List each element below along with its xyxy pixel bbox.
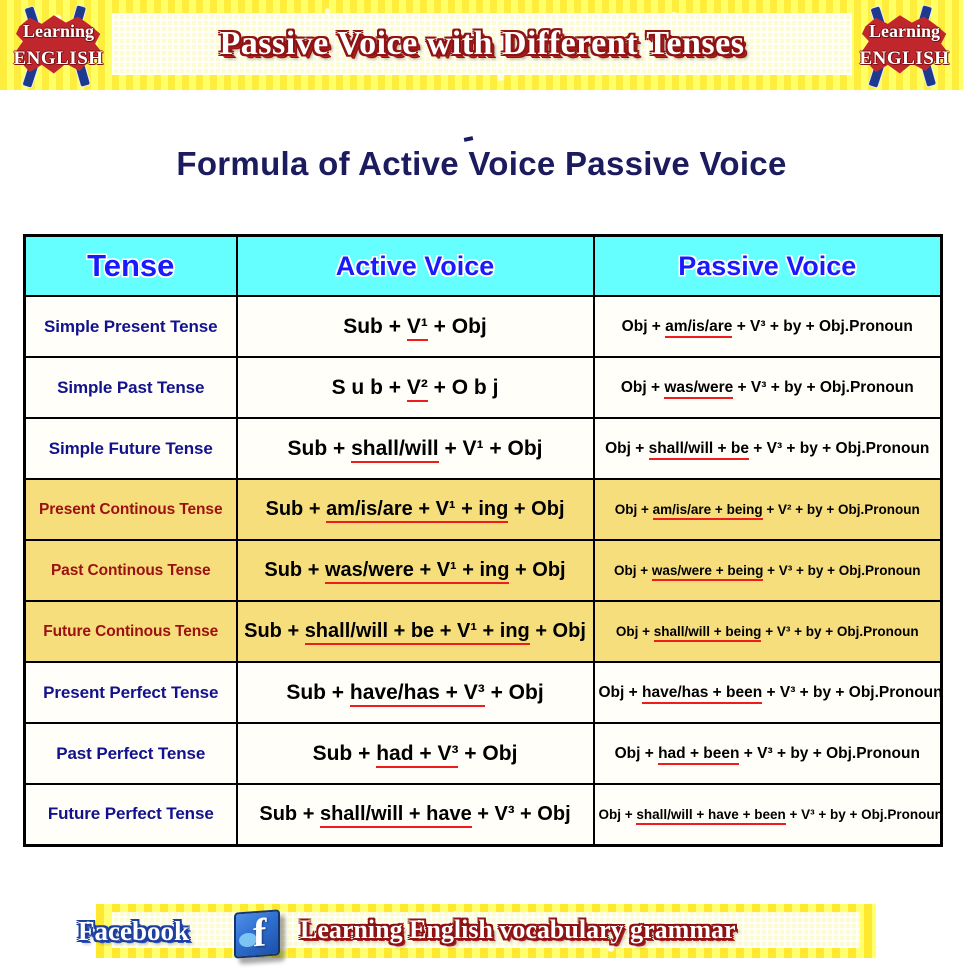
tense-name: Simple Past Tense <box>25 357 237 418</box>
underlined-segment: shall/will <box>351 437 439 463</box>
underlined-segment: am/is/are + V¹ + ing <box>326 498 508 523</box>
facebook-label[interactable]: Facebook <box>78 916 189 947</box>
plain-segment: + V³ + by + Obj.Pronoun <box>749 440 929 457</box>
passive-voice-formula: Obj + shall/will + being + V³ + by + Obj… <box>594 601 942 662</box>
page-title: Passive Voice with Different Tenses <box>112 13 852 75</box>
underlined-segment: was/were + V¹ + ing <box>325 559 510 584</box>
plain-segment: + V³ + by + Obj.Pronoun <box>763 563 920 578</box>
active-voice-formula: S u b + V² + O b j <box>237 357 594 418</box>
plain-segment: Sub + <box>244 620 305 642</box>
plain-segment: Sub + <box>286 681 350 704</box>
logo-text-line2: ENGLISH <box>6 48 111 70</box>
plain-segment: Obj + <box>605 440 649 457</box>
underlined-segment: was/were <box>664 379 733 399</box>
table-row: Present Continous TenseSub + am/is/are +… <box>25 479 942 540</box>
plain-segment: + V³ + Obj <box>472 803 571 825</box>
tense-name: Simple Present Tense <box>25 296 237 357</box>
underlined-segment: had + been <box>658 745 739 765</box>
passive-voice-formula: Obj + was/were + V³ + by + Obj.Pronoun <box>594 357 942 418</box>
plain-segment: + V¹ + Obj <box>439 437 543 460</box>
plain-segment: Sub + <box>313 742 377 765</box>
underlined-segment: shall/will + being <box>654 624 762 642</box>
table-row: Future Perfect TenseSub + shall/will + h… <box>25 784 942 845</box>
tense-name: Present Continous Tense <box>25 479 237 540</box>
table-row: Present Perfect TenseSub + have/has + V³… <box>25 662 942 723</box>
underlined-segment: have/has + V³ <box>350 681 485 707</box>
tense-name: Past Perfect Tense <box>25 723 237 784</box>
plain-segment: Sub + <box>287 437 351 460</box>
plain-segment: + V³ + by + Obj.Pronoun <box>739 745 919 762</box>
header-banner: Passive Voice with Different Tenses Lear… <box>0 0 963 90</box>
underlined-segment: had + V³ <box>376 742 458 768</box>
plain-segment: + V³ + by + Obj.Pronoun <box>786 807 943 822</box>
table-body: Simple Present TenseSub + V¹ + ObjObj + … <box>25 296 942 845</box>
plain-segment: Obj + <box>599 807 637 822</box>
underlined-segment: have/has + been <box>642 684 762 704</box>
plain-segment: + V³ + by + Obj.Pronoun <box>761 624 918 639</box>
plain-segment: Sub + <box>265 498 326 520</box>
active-voice-formula: Sub + had + V³ + Obj <box>237 723 594 784</box>
plain-segment: Obj + <box>615 502 653 517</box>
tense-name: Past Continous Tense <box>25 540 237 601</box>
tense-name: Future Continous Tense <box>25 601 237 662</box>
table-row: Simple Future TenseSub + shall/will + V¹… <box>25 418 942 479</box>
formula-subtitle-text: Formula of Active Voice Passive Voice <box>176 145 786 182</box>
plain-segment: Obj + <box>621 379 665 396</box>
passive-voice-formula: Obj + have/has + been + V³ + by + Obj.Pr… <box>594 662 942 723</box>
passive-voice-formula: Obj + am/is/are + being + V² + by + Obj.… <box>594 479 942 540</box>
table-header-row: Tense Active Voice Passive Voice <box>25 236 942 297</box>
active-voice-formula: Sub + am/is/are + V¹ + ing + Obj <box>237 479 594 540</box>
active-voice-formula: Sub + shall/will + be + V¹ + ing + Obj <box>237 601 594 662</box>
passive-voice-formula: Obj + shall/will + be + V³ + by + Obj.Pr… <box>594 418 942 479</box>
plain-segment: + O b j <box>428 376 499 399</box>
table-row: Future Continous TenseSub + shall/will +… <box>25 601 942 662</box>
underlined-segment: V² <box>407 376 428 402</box>
plain-segment: + V³ + by + Obj.Pronoun <box>732 318 912 335</box>
column-header-active-voice: Active Voice <box>237 236 594 297</box>
plain-segment: + Obj <box>485 681 544 704</box>
stray-mark-icon <box>464 136 474 142</box>
plain-segment: Sub + <box>259 803 320 825</box>
table-row: Simple Past TenseS u b + V² + O b jObj +… <box>25 357 942 418</box>
facebook-icon-letter: f <box>253 910 293 957</box>
plain-segment: Obj + <box>622 318 666 335</box>
facebook-icon[interactable]: f <box>231 909 283 959</box>
plain-segment: Obj + <box>615 745 659 762</box>
plain-segment: + Obj <box>530 620 586 642</box>
underlined-segment: V¹ <box>407 315 428 341</box>
plain-segment: Obj + <box>614 563 652 578</box>
underlined-segment: shall/will + be + V¹ + ing <box>305 620 530 645</box>
tense-name: Future Perfect Tense <box>25 784 237 845</box>
active-voice-formula: Sub + was/were + V¹ + ing + Obj <box>237 540 594 601</box>
logo-badge-left: Learning ENGLISH <box>6 8 111 84</box>
underlined-segment: shall/will + be <box>649 440 749 460</box>
underlined-segment: shall/will + have + been <box>636 807 785 825</box>
plain-segment: + V² + by + Obj.Pronoun <box>763 502 920 517</box>
column-header-passive-voice: Passive Voice <box>594 236 942 297</box>
active-voice-formula: Sub + have/has + V³ + Obj <box>237 662 594 723</box>
plain-segment: Sub + <box>343 315 407 338</box>
tense-name: Simple Future Tense <box>25 418 237 479</box>
plain-segment: Sub + <box>264 559 325 581</box>
plain-segment: + Obj <box>508 498 564 520</box>
plain-segment: S u b + <box>332 376 407 399</box>
table-row: Past Perfect TenseSub + had + V³ + ObjOb… <box>25 723 942 784</box>
underlined-segment: shall/will + have <box>320 803 472 828</box>
logo-text-line2: ENGLISH <box>852 48 957 70</box>
tense-name: Present Perfect Tense <box>25 662 237 723</box>
passive-voice-formula: Obj + shall/will + have + been + V³ + by… <box>594 784 942 845</box>
active-voice-formula: Sub + shall/will + V¹ + Obj <box>237 418 594 479</box>
logo-text-line1: Learning <box>852 21 957 42</box>
column-header-tense: Tense <box>25 236 237 297</box>
underlined-segment: am/is/are + being <box>653 502 763 520</box>
logo-text-line1: Learning <box>6 21 111 42</box>
table-row: Past Continous TenseSub + was/were + V¹ … <box>25 540 942 601</box>
underlined-segment: was/were + being <box>652 563 763 581</box>
logo-badge-right: Learning ENGLISH <box>852 8 957 84</box>
table-row: Simple Present TenseSub + V¹ + ObjObj + … <box>25 296 942 357</box>
passive-voice-formula: Obj + had + been + V³ + by + Obj.Pronoun <box>594 723 942 784</box>
passive-voice-formula: Obj + was/were + being + V³ + by + Obj.P… <box>594 540 942 601</box>
plain-segment: + V³ + by + Obj.Pronoun <box>733 379 913 396</box>
plain-segment: Obj + <box>616 624 654 639</box>
plain-segment: + Obj <box>428 315 487 338</box>
infographic-page: Passive Voice with Different Tenses Lear… <box>0 0 963 969</box>
tense-formula-table: Tense Active Voice Passive Voice Simple … <box>23 234 943 847</box>
active-voice-formula: Sub + shall/will + have + V³ + Obj <box>237 784 594 845</box>
footer-banner: Facebook Learning English vocabulary gra… <box>0 898 963 964</box>
plain-segment: + Obj <box>458 742 517 765</box>
passive-voice-formula: Obj + am/is/are + V³ + by + Obj.Pronoun <box>594 296 942 357</box>
facebook-page-name[interactable]: Learning English vocabulary grammar <box>300 915 736 945</box>
active-voice-formula: Sub + V¹ + Obj <box>237 296 594 357</box>
plain-segment: + Obj <box>509 559 565 581</box>
plain-segment: Obj + <box>599 684 643 701</box>
plain-segment: + V³ + by + Obj.Pronoun <box>762 684 942 701</box>
underlined-segment: am/is/are <box>665 318 732 338</box>
formula-subtitle: Formula of Active Voice Passive Voice <box>0 145 963 183</box>
